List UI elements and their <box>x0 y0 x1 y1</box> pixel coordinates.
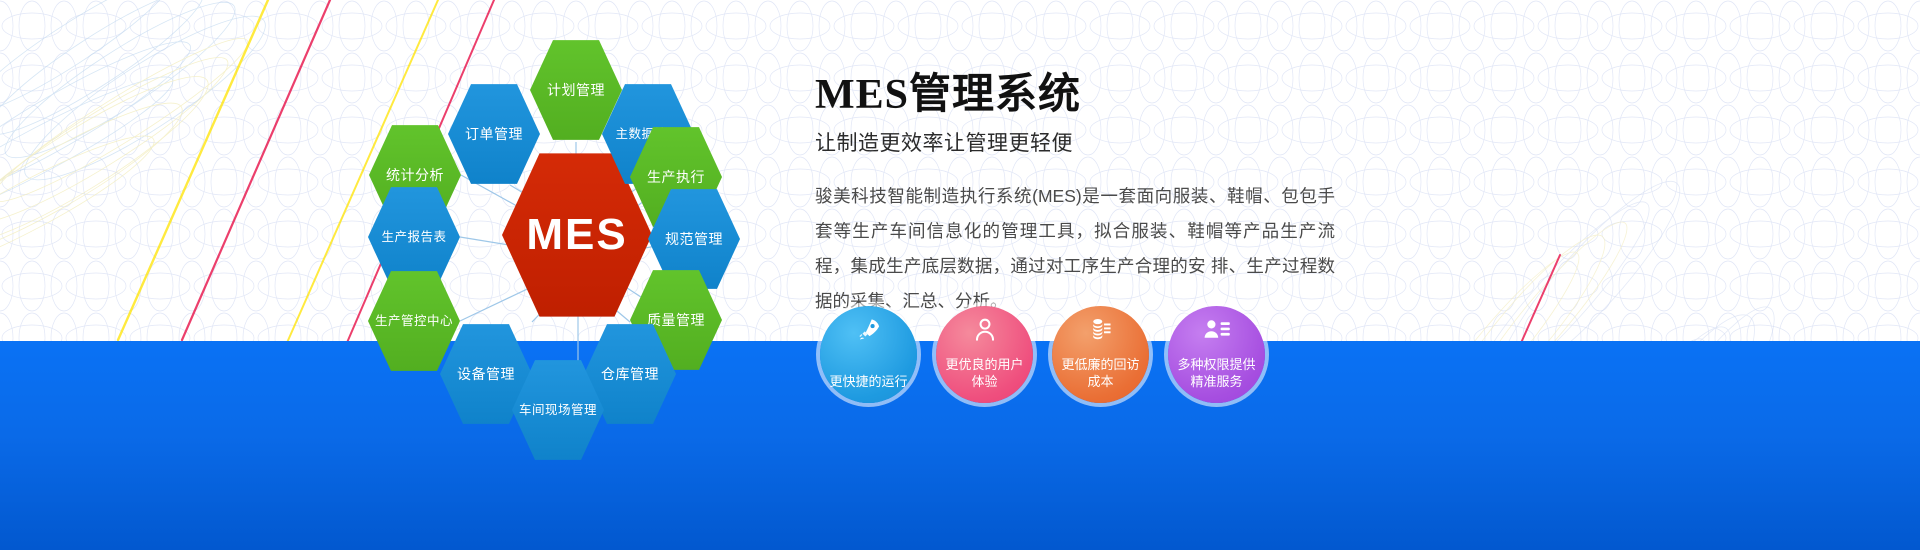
feature-badge-list: 更快捷的运行 更优良的用户体验 <box>820 306 1265 403</box>
page-title: MES管理系统 <box>815 60 1335 121</box>
feature-badge-cost[interactable]: 更低廉的回访成本 <box>1052 306 1149 403</box>
coins-icon <box>1052 317 1149 343</box>
page-subtitle: 让制造更效率让管理更轻便 <box>815 127 1335 157</box>
yellow-accent-line <box>118 0 268 340</box>
red-accent-line <box>182 0 330 340</box>
hex-node-label: 生产执行 <box>641 169 711 186</box>
hex-node-label: 设备管理 <box>451 366 521 383</box>
mes-hexagon-diagram: MES 计划管理 订单管理 主数据管理 统计分析 生产执行 生产报告表 规范管理… <box>330 10 790 430</box>
hex-node-label: 计划管理 <box>541 82 611 99</box>
feature-badge-label: 更低廉的回访成本 <box>1052 356 1149 391</box>
hex-node-label: 生产报告表 <box>375 230 452 245</box>
description-paragraph: 骏美科技智能制造执行系统(MES)是一套面向服装、鞋帽、包包手套等生产车间信息化… <box>815 179 1335 319</box>
hex-node-center-label: MES <box>520 209 633 261</box>
hex-node-label: 统计分析 <box>380 167 450 184</box>
user-icon <box>936 317 1033 343</box>
hex-node-label: 订单管理 <box>459 126 529 143</box>
rocket-icon <box>820 317 917 343</box>
feature-badge-experience[interactable]: 更优良的用户体验 <box>936 306 1033 403</box>
feature-badge-label: 更优良的用户体验 <box>936 356 1033 391</box>
hex-node-label: 生产管控中心 <box>369 314 459 329</box>
user-list-icon <box>1168 317 1265 343</box>
hex-node-label: 仓库管理 <box>595 366 665 383</box>
hex-node-label: 规范管理 <box>659 231 729 248</box>
hex-node-label: 车间现场管理 <box>513 403 603 418</box>
mes-promo-banner: MES 计划管理 订单管理 主数据管理 统计分析 生产执行 生产报告表 规范管理… <box>0 0 1920 550</box>
feature-badge-permissions[interactable]: 多种权限提供精准服务 <box>1168 306 1265 403</box>
feature-badge-faster[interactable]: 更快捷的运行 <box>820 306 917 403</box>
copy-block: MES管理系统 让制造更效率让管理更轻便 骏美科技智能制造执行系统(MES)是一… <box>815 60 1335 319</box>
feature-badge-label: 更快捷的运行 <box>823 373 913 391</box>
feature-badge-label: 多种权限提供精准服务 <box>1168 356 1265 391</box>
